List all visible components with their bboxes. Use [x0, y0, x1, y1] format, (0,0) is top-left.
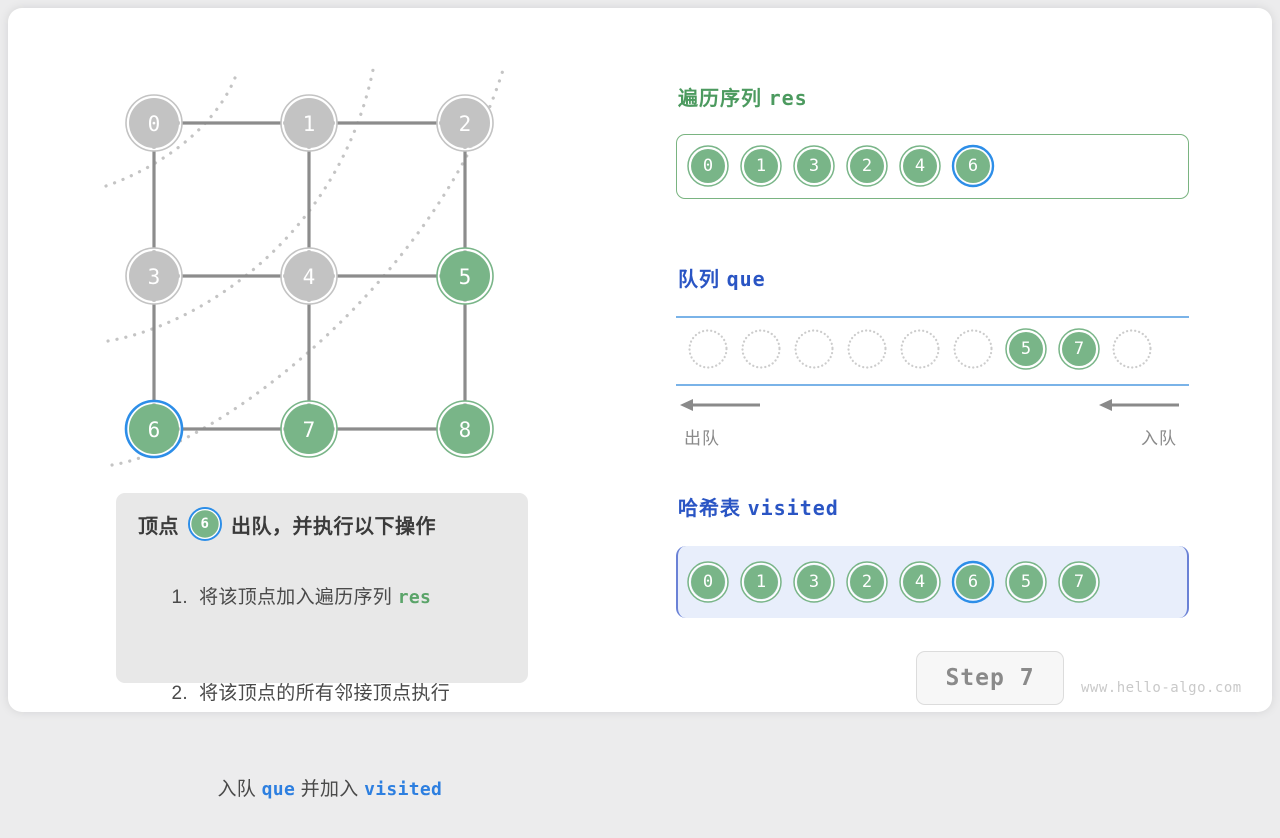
que-slot-5[interactable]: [951, 327, 995, 371]
res-item-5-label: 6: [951, 144, 995, 188]
res-title: 遍历序列 res: [678, 82, 808, 111]
caption-step-2: 2. 将该顶点的所有邻接顶点执行: [138, 646, 510, 742]
graph-nodes: 012345678: [126, 95, 493, 457]
que-slot-1[interactable]: [739, 327, 783, 371]
que-top-rail: [676, 316, 1189, 318]
visited-item-3[interactable]: 2: [845, 560, 889, 604]
step-badge: Step 7: [916, 651, 1064, 705]
que-slot-7[interactable]: 7: [1057, 327, 1101, 371]
graph-node-label-4: 4: [303, 265, 316, 289]
caption-step-2-tail: 并加入: [295, 779, 364, 800]
graph-node-5[interactable]: 5: [437, 248, 493, 304]
visited-item-4-label: 4: [898, 560, 942, 604]
graph-node-8[interactable]: 8: [437, 401, 493, 457]
caption-step-1: 1. 将该顶点加入遍历序列 res: [138, 550, 510, 646]
res-item-1-label: 1: [739, 144, 783, 188]
res-items: 013246: [686, 144, 995, 188]
graph-node-3[interactable]: 3: [126, 248, 182, 304]
que-title-cn: 队列: [678, 269, 720, 291]
graph-node-label-8: 8: [459, 418, 472, 442]
graph-node-label-1: 1: [303, 112, 316, 136]
caption-step-2-code-que: que: [262, 779, 295, 800]
res-item-5[interactable]: 6: [951, 144, 995, 188]
que-enqueue-label: 入队: [1141, 424, 1177, 449]
caption-head-suffix: 出队，并执行以下操作: [231, 510, 436, 539]
visited-item-5-label: 6: [951, 560, 995, 604]
visited-item-3-label: 2: [845, 560, 889, 604]
caption-step-2-text: 将该顶点的所有邻接顶点执行: [199, 683, 450, 704]
caption-box: 顶点 6 出队，并执行以下操作 1. 将该顶点加入遍历序列 res 2. 将该顶…: [116, 493, 528, 683]
que-arrows-svg: [676, 394, 1189, 416]
visited-title-cn: 哈希表: [678, 498, 741, 520]
visited-title-code: visited: [748, 496, 839, 520]
que-dequeue-label: 出队: [684, 424, 720, 449]
que-arrow-row: 出队 入队: [676, 394, 1189, 444]
caption-step-2-text2: 入队: [217, 779, 261, 800]
res-item-1[interactable]: 1: [739, 144, 783, 188]
caption-step-1-code: res: [398, 587, 431, 608]
caption-step-2-cont: 入队 que 并加入 visited: [138, 742, 510, 838]
graph-node-6[interactable]: 6: [126, 401, 182, 457]
graph-node-label-0: 0: [148, 112, 161, 136]
res-item-0[interactable]: 0: [686, 144, 730, 188]
graph-node-label-6: 6: [148, 418, 161, 442]
res-item-2[interactable]: 3: [792, 144, 836, 188]
visited-item-5[interactable]: 6: [951, 560, 995, 604]
graph-node-label-7: 7: [303, 418, 316, 442]
res-title-cn: 遍历序列: [678, 88, 762, 110]
caption-step-1-text: 将该顶点加入遍历序列: [199, 587, 398, 608]
res-item-2-label: 3: [792, 144, 836, 188]
graph-node-label-3: 3: [148, 265, 161, 289]
graph-panel: 012345678: [8, 8, 608, 508]
watermark: www.hello-algo.com: [1081, 680, 1242, 696]
que-slot-7-label: 7: [1057, 327, 1101, 371]
que-slot-0[interactable]: [686, 327, 730, 371]
res-item-3-label: 2: [845, 144, 889, 188]
visited-item-4[interactable]: 4: [898, 560, 942, 604]
visited-item-7-label: 7: [1057, 560, 1101, 604]
graph-node-2[interactable]: 2: [437, 95, 493, 151]
res-item-4-label: 4: [898, 144, 942, 188]
caption-step-2-code-visited: visited: [364, 779, 442, 800]
caption-step-2-num: 2.: [171, 683, 187, 704]
visited-title: 哈希表 visited: [678, 492, 839, 521]
caption-step-1-num: 1.: [171, 587, 187, 608]
graph-node-4[interactable]: 4: [281, 248, 337, 304]
que-title: 队列 que: [678, 263, 766, 292]
visited-item-1[interactable]: 1: [739, 560, 783, 604]
graph-canvas: 012345678: [8, 8, 608, 508]
que-slot-4[interactable]: [898, 327, 942, 371]
visited-items: 01324657: [686, 560, 1101, 604]
visited-item-2-label: 3: [792, 560, 836, 604]
que-slots: 57: [686, 327, 1154, 371]
graph-node-label-2: 2: [459, 112, 472, 136]
caption-heading: 顶点 6 出队，并执行以下操作: [138, 507, 510, 541]
caption-vertex-chip: 6: [188, 507, 222, 541]
visited-item-0-label: 0: [686, 560, 730, 604]
caption-vertex-chip-label: 6: [188, 507, 222, 541]
que-bottom-rail: [676, 384, 1189, 386]
visited-item-0[interactable]: 0: [686, 560, 730, 604]
que-title-code: que: [727, 267, 766, 291]
que-slot-2[interactable]: [792, 327, 836, 371]
res-item-3[interactable]: 2: [845, 144, 889, 188]
res-item-0-label: 0: [686, 144, 730, 188]
visited-item-1-label: 1: [739, 560, 783, 604]
que-slot-8[interactable]: [1110, 327, 1154, 371]
res-item-4[interactable]: 4: [898, 144, 942, 188]
visited-item-2[interactable]: 3: [792, 560, 836, 604]
res-title-code: res: [769, 86, 808, 110]
right-panel: 遍历序列 res 013246 队列 que 57 出队 入队: [668, 8, 1228, 728]
visited-item-6[interactable]: 5: [1004, 560, 1048, 604]
page-card: 012345678 顶点 6 出队，并执行以下操作 1. 将该顶点加入遍历序列 …: [8, 8, 1272, 712]
visited-item-7[interactable]: 7: [1057, 560, 1101, 604]
graph-node-1[interactable]: 1: [281, 95, 337, 151]
graph-node-label-5: 5: [459, 265, 472, 289]
visited-item-6-label: 5: [1004, 560, 1048, 604]
que-slot-6[interactable]: 5: [1004, 327, 1048, 371]
que-slot-3[interactable]: [845, 327, 889, 371]
graph-node-7[interactable]: 7: [281, 401, 337, 457]
graph-node-0[interactable]: 0: [126, 95, 182, 151]
que-slot-6-label: 5: [1004, 327, 1048, 371]
caption-head-prefix: 顶点: [138, 510, 179, 539]
